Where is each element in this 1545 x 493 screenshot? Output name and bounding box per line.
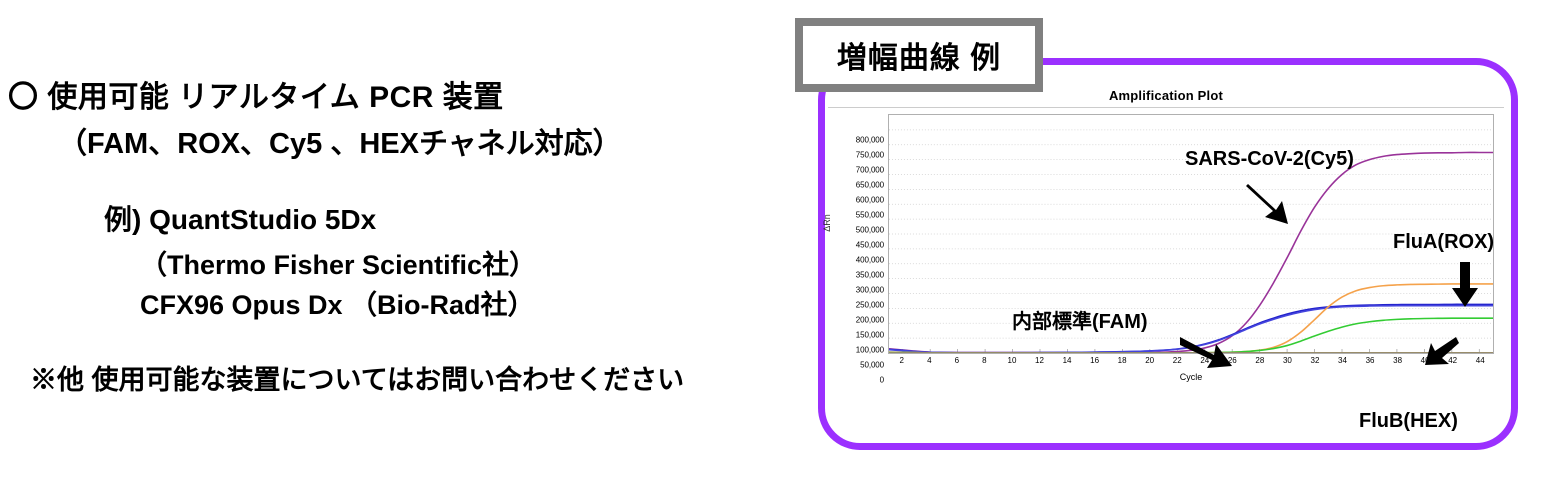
x-tick-label: 14 [1063, 356, 1072, 365]
y-tick-label: 650,000 [856, 181, 884, 190]
channels-line: （FAM、ROX、Cy5 、HEXチャネル対応） [58, 120, 622, 162]
y-tick-label: 100,000 [856, 346, 884, 355]
y-tick-label: 700,000 [856, 166, 884, 175]
x-tick-label: 30 [1283, 356, 1292, 365]
y-tick-label: 550,000 [856, 211, 884, 220]
info-text-panel: 〇 使用可能 リアルタイム PCR 装置 （FAM、ROX、Cy5 、HEXチャ… [0, 0, 800, 493]
x-tick-label: 8 [982, 356, 986, 365]
annotation-label-hex: FluB(HEX) [1359, 410, 1458, 433]
x-tick-label: 28 [1255, 356, 1264, 365]
vendor-biorad-line: CFX96 Opus Dx （Bio-Rad社） [140, 283, 535, 322]
y-tick-label: 450,000 [856, 241, 884, 250]
y-axis-title: ΔRn [822, 214, 832, 232]
example-device-line: 例) QuantStudio 5Dx [104, 198, 376, 238]
y-tick-label: 350,000 [856, 271, 884, 280]
x-tick-label: 32 [1311, 356, 1320, 365]
x-tick-label: 12 [1035, 356, 1044, 365]
y-tick-label: 250,000 [856, 301, 884, 310]
x-tick-label: 4 [927, 356, 931, 365]
annotation-label-fam: 内部標準(FAM) [1012, 305, 1148, 334]
y-tick-label: 0 [880, 376, 884, 385]
x-tick-label: 44 [1476, 356, 1485, 365]
x-tick-label: 36 [1366, 356, 1375, 365]
heading-available-devices: 〇 使用可能 リアルタイム PCR 装置 [8, 72, 504, 116]
annotation-label-rox: FluA(ROX) [1393, 231, 1494, 254]
contact-note-line: ※他 使用可能な装置についてはお問い合わせください [30, 358, 684, 397]
y-tick-label: 300,000 [856, 286, 884, 295]
x-tick-label: 20 [1145, 356, 1154, 365]
y-tick-label: 150,000 [856, 331, 884, 340]
x-axis-title: Cycle [888, 372, 1494, 382]
x-tick-label: 6 [955, 356, 959, 365]
y-axis-ticks: 800,000750,000700,000650,000600,000550,0… [834, 114, 884, 354]
y-tick-label: 50,000 [860, 361, 884, 370]
y-tick-label: 750,000 [856, 151, 884, 160]
x-tick-label: 10 [1008, 356, 1017, 365]
x-tick-label: 18 [1118, 356, 1127, 365]
annotation-arrow-cy5-icon [1246, 182, 1294, 226]
chart-title-divider [828, 107, 1504, 108]
x-tick-label: 38 [1393, 356, 1402, 365]
y-tick-label: 500,000 [856, 226, 884, 235]
annotation-arrow-fam-icon [1180, 335, 1232, 369]
x-tick-label: 34 [1338, 356, 1347, 365]
annotation-arrow-hex-icon [1425, 335, 1459, 385]
y-tick-label: 400,000 [856, 256, 884, 265]
callout-title-label: 増幅曲線 例 [837, 33, 1001, 77]
x-tick-label: 16 [1090, 356, 1099, 365]
annotation-label-cy5: SARS-CoV-2(Cy5) [1185, 148, 1354, 171]
y-tick-label: 200,000 [856, 316, 884, 325]
callout-title-box: 増幅曲線 例 [795, 18, 1043, 92]
y-tick-label: 600,000 [856, 196, 884, 205]
annotation-arrow-rox-icon [1452, 262, 1478, 308]
y-tick-label: 800,000 [856, 136, 884, 145]
vendor-thermo-line: （Thermo Fisher Scientific社） [140, 243, 536, 282]
x-tick-label: 2 [900, 356, 904, 365]
